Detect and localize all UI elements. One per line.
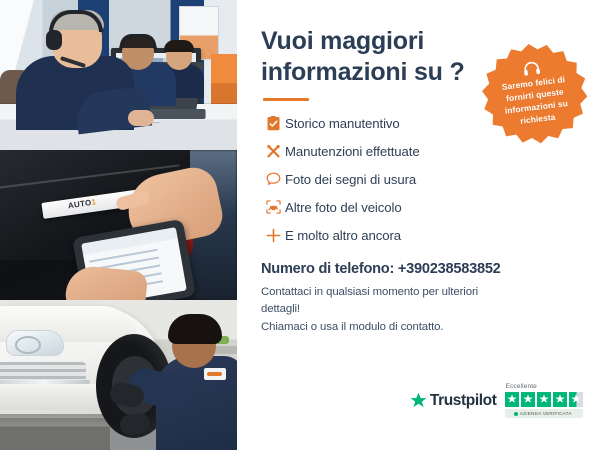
vehicle-lift: [0, 418, 116, 450]
trustpilot-logo: Trustpilot: [410, 392, 497, 410]
list-item: Foto dei segni di usura: [261, 170, 491, 188]
list-item: Altre foto del veicolo: [261, 198, 491, 216]
clipboard-check-icon: [261, 114, 285, 132]
mechanic: [150, 310, 237, 450]
list-item: E molto altro ancora: [261, 226, 491, 244]
sticker-on-car-photo: AUTO1: [0, 150, 237, 300]
car-scan-icon: [261, 198, 285, 216]
page-title: Vuoi maggiori informazioni su ?: [261, 26, 476, 87]
list-item: Storico manutentivo: [261, 114, 491, 132]
trustpilot-star-icon: [410, 392, 427, 409]
plus-icon: [261, 226, 285, 244]
star-filled: [553, 392, 568, 407]
list-item: Manutenzioni effettuate: [261, 142, 491, 160]
star-filled: [537, 392, 552, 407]
headlight: [6, 330, 64, 356]
sticker-label-secondary: 1: [91, 197, 97, 207]
feature-label: Foto dei segni di usura: [285, 172, 416, 187]
star-filled: [521, 392, 536, 407]
promo-card: AUTO1: [0, 0, 600, 450]
feature-label: Altre foto del veicolo: [285, 200, 402, 215]
feature-list: Storico manutentivo Manutenzioni effettu…: [261, 114, 491, 244]
speech-bubble-icon: [261, 170, 285, 188]
rating-label: Eccellente: [505, 383, 537, 390]
star-filled: [505, 392, 520, 407]
contact-subtext-line-2: Chiamaci o usa il modulo di contatto.: [261, 319, 513, 336]
feature-label: Manutenzioni effettuate: [285, 144, 420, 159]
crossed-tools-icon: [261, 142, 285, 160]
call-center-agents-photo: [0, 0, 237, 150]
verified-business-badge: AZIENDA VERIFICATA: [505, 409, 584, 418]
feature-label: E molto altro ancora: [285, 228, 401, 243]
feature-label: Storico manutentivo: [285, 116, 400, 131]
trustpilot-score: Eccellente: [505, 383, 584, 418]
mechanic-wheel-photo: [0, 300, 237, 450]
foreground-agent-with-headset: [16, 22, 136, 130]
headset-icon: [521, 59, 543, 77]
content-panel: Vuoi maggiori informazioni su ? Saremo f…: [237, 0, 600, 450]
photo-column: AUTO1: [0, 0, 237, 450]
grille: [0, 362, 86, 382]
callout-badge: Saremo felici di fornirti queste informa…: [475, 36, 595, 156]
contact-subtext-line-1: Contattaci in qualsiasi momento per ulte…: [261, 284, 513, 319]
trustpilot-wordmark: Trustpilot: [430, 392, 497, 410]
verified-label: AZIENDA VERIFICATA: [520, 411, 572, 416]
phone-number-line[interactable]: Numero di telefono: +390238583852: [261, 261, 580, 277]
star-partial: [569, 392, 584, 407]
contact-subtext: Contattaci in qualsiasi momento per ulte…: [261, 284, 513, 336]
trustpilot-rating[interactable]: Trustpilot Eccellente: [410, 383, 583, 418]
sticker-label-primary: AUTO: [67, 198, 92, 210]
star-rating: [505, 392, 584, 407]
verified-check-icon: [514, 412, 518, 416]
uniform-logo: [204, 368, 226, 380]
title-underline: [263, 98, 309, 101]
